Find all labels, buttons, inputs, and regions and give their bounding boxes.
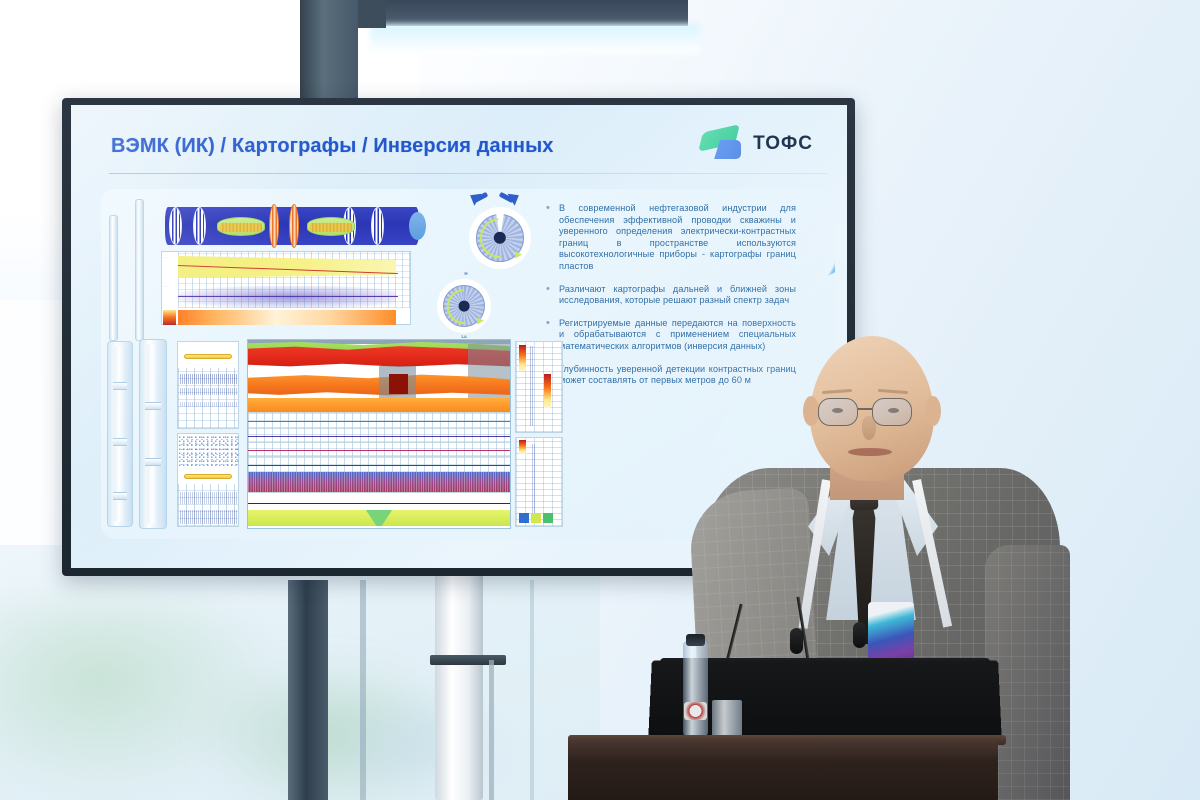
- axis-label: ·····: [163, 286, 176, 289]
- log-trace: [530, 346, 533, 426]
- red-log-curve: [248, 465, 510, 466]
- transmitter-coil: [289, 204, 299, 248]
- receiver-coil: [371, 207, 384, 245]
- mouth: [848, 448, 892, 456]
- eyeglasses-lens-left: [818, 398, 858, 426]
- ear-right: [925, 396, 941, 426]
- legend-swatch-green: [543, 513, 553, 523]
- tool-body: [165, 207, 419, 245]
- microphone-head-right: [853, 622, 866, 648]
- ear-left: [803, 396, 819, 426]
- transmitter-coil: [269, 204, 279, 248]
- list-item: • Различают картографы дальней и ближней…: [546, 284, 796, 307]
- title-divider: [109, 173, 827, 174]
- lectern: [568, 740, 998, 800]
- color-scale-bar: [163, 310, 176, 325]
- heat-strip: [178, 310, 396, 325]
- direction-arrow-left-head: [467, 189, 482, 206]
- green-log-curve: [248, 421, 510, 422]
- microphone-head-left: [790, 628, 803, 654]
- resistivity-band-orange-lower: [248, 398, 510, 412]
- direction-arrow-right-head: [508, 189, 523, 206]
- bottle-cap: [686, 634, 705, 646]
- log-curve-track: [248, 412, 510, 428]
- log-curve-track: [248, 428, 510, 442]
- azimuthal-rose-diagrams: Н La: [453, 193, 543, 333]
- log-curve-track: [248, 492, 510, 512]
- green-marker-band: [248, 510, 510, 526]
- log-curve-track: [248, 456, 510, 472]
- screen-stand-pole: [435, 570, 483, 800]
- tool-end-cap: [409, 212, 426, 240]
- log-trace: [532, 444, 535, 516]
- window-frame-edge: [360, 580, 366, 800]
- probe-diagram-right: [135, 199, 144, 341]
- downhole-tool-photo: [139, 339, 167, 529]
- screen-stand-rod: [489, 660, 494, 800]
- purple-response-curve: [178, 296, 398, 297]
- response-log-plot: ····· ·····: [161, 251, 411, 325]
- axis-label: ·····: [163, 257, 176, 260]
- log-noise-band: [180, 402, 238, 407]
- tool-marker: [184, 474, 232, 479]
- probe-diagram-left: [109, 215, 118, 341]
- sensor-puck: [217, 217, 265, 236]
- downhole-tool-photo: [107, 341, 133, 527]
- dial-label-h: Н: [451, 271, 481, 276]
- slide-title: ВЭМК (ИК) / Картографы / Инверсия данных: [111, 135, 554, 158]
- window-glow: [370, 24, 700, 54]
- water-bottle: [683, 641, 708, 737]
- logo-wordmark: ТОФС: [753, 133, 813, 155]
- garden-foliage-blur: [330, 690, 510, 800]
- bullet-text: В современной нефтегазовой индустрии для…: [559, 203, 796, 273]
- rose-dial-lower: [437, 279, 491, 333]
- tofs-logo-icon: [702, 128, 744, 160]
- list-item: • В современной нефтегазовой индустрии д…: [546, 203, 796, 273]
- log-noise-band: [180, 374, 238, 384]
- high-resistivity-anomaly: [389, 374, 407, 394]
- tool-photo-body: [147, 344, 159, 524]
- sensor-puck: [307, 217, 355, 236]
- dense-amplitude-band: [248, 472, 510, 492]
- log-noise-band: [180, 510, 238, 524]
- legend-swatch-yellow: [531, 513, 541, 523]
- log-curve-track: [248, 442, 510, 456]
- tool-joint: [113, 492, 127, 500]
- mini-heat-scale: [519, 345, 526, 371]
- mini-heat-scale: [519, 440, 526, 454]
- legend-swatch-blue: [519, 513, 529, 523]
- tool-joint: [145, 402, 161, 410]
- glass-panel-seam: [530, 580, 534, 800]
- tool-joint: [113, 438, 127, 446]
- tool-joint: [113, 382, 127, 390]
- log-noise-band: [180, 492, 238, 504]
- conference-room-scene: ВЭМК (ИК) / Картографы / Инверсия данных…: [0, 0, 1200, 800]
- eyeglasses-lens-right: [872, 398, 912, 426]
- window-mullion-top: [300, 0, 358, 100]
- scatter-cloud: [179, 436, 239, 466]
- tool-marker: [184, 354, 232, 359]
- tool-joint: [145, 458, 161, 466]
- brand-logo: ТОФС: [702, 128, 813, 160]
- geosteering-inversion-display: [247, 339, 511, 529]
- well-log-panel: [177, 341, 239, 429]
- bullet-text: Различают картографы дальней и ближней з…: [559, 284, 796, 307]
- magenta-log-curve: [248, 450, 510, 451]
- bottle-label: [684, 702, 707, 720]
- mini-heat-scale: [544, 374, 551, 408]
- bullet-glyph: •: [546, 203, 559, 273]
- window-mullion-lower: [288, 580, 328, 800]
- screen-stand-collar: [430, 655, 506, 665]
- well-log-strip: [515, 437, 563, 527]
- eyeglasses-bridge: [858, 408, 872, 410]
- well-log-strip: [515, 341, 563, 433]
- nose: [862, 416, 876, 440]
- window-mullion-corner: [358, 0, 386, 28]
- purple-log-curve: [248, 436, 510, 437]
- rose-dial-upper: [469, 207, 531, 269]
- log-noise-band: [180, 388, 238, 395]
- dark-log-curve: [248, 503, 510, 504]
- bullet-glyph: •: [546, 284, 559, 307]
- ceiling-soffit: [358, 0, 688, 26]
- receiver-coil: [193, 207, 206, 245]
- receiver-coil: [169, 207, 182, 245]
- well-log-panel: [177, 433, 239, 527]
